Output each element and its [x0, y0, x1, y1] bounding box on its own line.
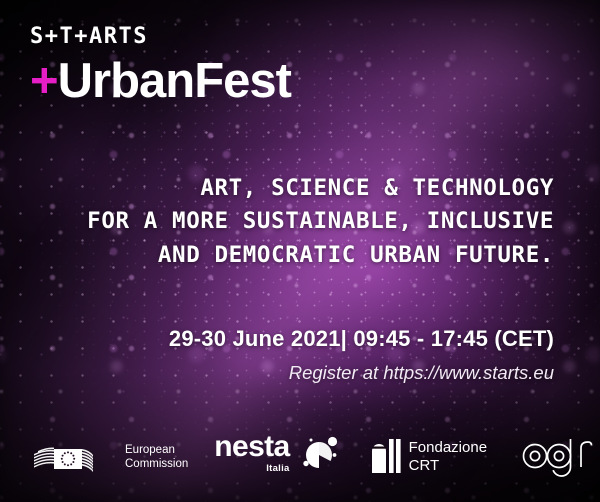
- logo-fondazione-crt: Fondazione CRT: [371, 437, 487, 478]
- urbanfest-label: UrbanFest: [58, 54, 291, 108]
- logo-nesta-italia: nesta Italia: [214, 432, 340, 482]
- ec-line-2: Commission: [125, 458, 188, 470]
- tagline-line-1: ART, SCIENCE & TECHNOLOGY: [87, 172, 554, 205]
- title-block: S+T+ARTS +UrbanFest: [30, 26, 291, 106]
- nesta-wordmark: nesta: [214, 430, 289, 463]
- poster-canvas: S+T+ARTS +UrbanFest ART, SCIENCE & TECHN…: [0, 0, 600, 502]
- ogr-outline-icon: [521, 431, 595, 484]
- logo-ogr: [521, 431, 595, 484]
- tagline-line-3: AND DEMOCRATIC URBAN FUTURE.: [87, 239, 554, 272]
- nesta-circle-icon: [297, 433, 341, 482]
- plus-symbol: +: [30, 54, 58, 108]
- crt-bars-icon: [371, 437, 401, 478]
- sponsor-logo-bar: European Commission nesta Italia: [0, 426, 600, 488]
- ec-line-1: European: [125, 444, 175, 456]
- event-datetime: 29-30 June 2021| 09:45 - 17:45 (CET): [169, 326, 554, 352]
- tagline-line-2: FOR A MORE SUSTAINABLE, INCLUSIVE: [87, 205, 554, 238]
- european-commission-label: European Commission: [125, 443, 188, 472]
- nesta-subtitle: Italia: [214, 464, 289, 474]
- event-details-block: 29-30 June 2021| 09:45 - 17:45 (CET) Reg…: [169, 326, 554, 384]
- logo-european-commission: European Commission: [32, 440, 188, 474]
- register-link[interactable]: Register at https://www.starts.eu: [169, 362, 554, 384]
- starts-wordmark: S+T+ARTS: [30, 26, 291, 48]
- tagline-block: ART, SCIENCE & TECHNOLOGY FOR A MORE SUS…: [87, 172, 554, 272]
- fondazione-crt-label: Fondazione CRT: [409, 439, 487, 474]
- eu-flag-icon: [32, 440, 116, 474]
- crt-line-1: Fondazione: [409, 439, 487, 456]
- urbanfest-wordmark: +UrbanFest: [30, 57, 291, 106]
- nesta-wordmark-wrap: nesta Italia: [214, 432, 289, 474]
- crt-line-2: CRT: [409, 457, 440, 474]
- poster-content: S+T+ARTS +UrbanFest ART, SCIENCE & TECHN…: [0, 0, 600, 502]
